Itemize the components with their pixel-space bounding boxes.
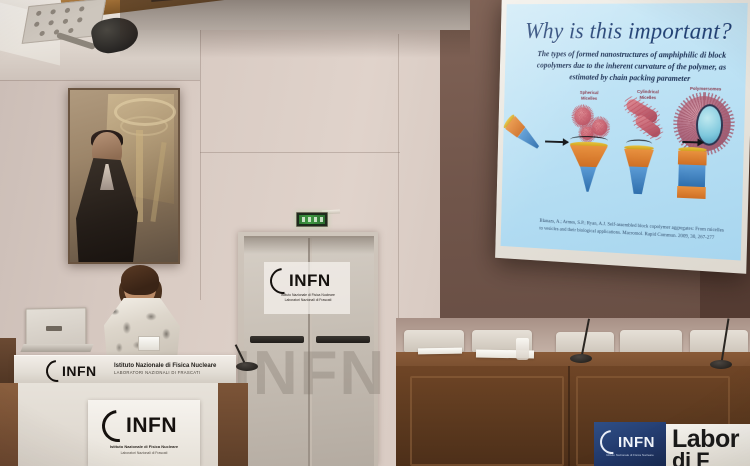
podium-nameplate-line1: Istituto Nazionale di Fisica Nucleare <box>114 363 238 369</box>
laptop-brand-logo <box>46 326 62 331</box>
water-glass <box>516 338 529 360</box>
banner-text: Labor di F <box>672 428 750 466</box>
wall-seam <box>0 80 200 81</box>
speaker-badge <box>138 336 160 351</box>
framed-portrait <box>68 88 180 264</box>
slide-surface: Why is this important? The types of form… <box>501 3 748 261</box>
chair-back <box>620 330 682 354</box>
door-infn-logo: INFN Istituto Nazionale di Fisica Nuclea… <box>264 262 350 314</box>
slide-citation: Blanazs, A.; Armes, S.P.; Ryan, A.J. Sel… <box>539 218 724 243</box>
microphone-base <box>710 360 732 369</box>
slide-title: Why is this important? <box>525 19 738 46</box>
exit-sign <box>296 212 328 227</box>
microphone-base <box>236 362 258 371</box>
microphone-base <box>570 354 592 363</box>
laptop-base <box>20 344 93 352</box>
door-logo-sub2: Laboratori Nazionali di Frascati <box>271 298 345 303</box>
podium-front-line2: Laboratori Nazionali di Frascati <box>96 451 192 455</box>
podium-front-logo-panel: INFN Istituto Nazionale di Fisica Nuclea… <box>88 400 200 466</box>
chair-back <box>690 330 748 354</box>
infn-banner: INFN Istituto Nazionale di Fisica Nuclea… <box>594 422 666 466</box>
wall-seam <box>200 152 400 153</box>
projection-screen: Why is this important? The types of form… <box>495 0 750 274</box>
podium-front-line1: Istituto Nazionale di Fisica Nucleare <box>96 444 192 449</box>
podium-left-side <box>0 383 18 466</box>
podium-nameplate-line2: LABORATORI NAZIONALI DI FRASCATI <box>114 370 238 375</box>
slide-subtitle: The types of formed nanostructures of am… <box>522 48 742 85</box>
banner-text-line2: di F <box>672 451 750 466</box>
source-copolymer-cone <box>504 115 544 154</box>
banner-logo-sub: Istituto Nazionale di Fisica Nucleare <box>599 453 661 457</box>
wall-infn-lettering: INFN <box>244 330 376 416</box>
packing-cone-cylindrical <box>623 145 654 195</box>
transform-arrow <box>545 141 568 144</box>
packing-cone-spherical <box>569 141 608 192</box>
speaker-hair <box>121 265 159 295</box>
ceiling-shadow <box>120 0 470 58</box>
conference-photo: INFN Istituto Nazionale di Fisica Nuclea… <box>0 0 750 466</box>
desk-panel <box>410 376 564 466</box>
packing-cone-polymersome <box>677 147 707 199</box>
paper-sheet <box>418 348 462 355</box>
podium-right-side <box>218 383 248 466</box>
wall-seam <box>398 34 399 324</box>
label-spherical-micelles: SphericalMicelles <box>567 90 611 102</box>
podium-nameplate-strip: INFN Istituto Nazionale di Fisica Nuclea… <box>14 355 236 386</box>
